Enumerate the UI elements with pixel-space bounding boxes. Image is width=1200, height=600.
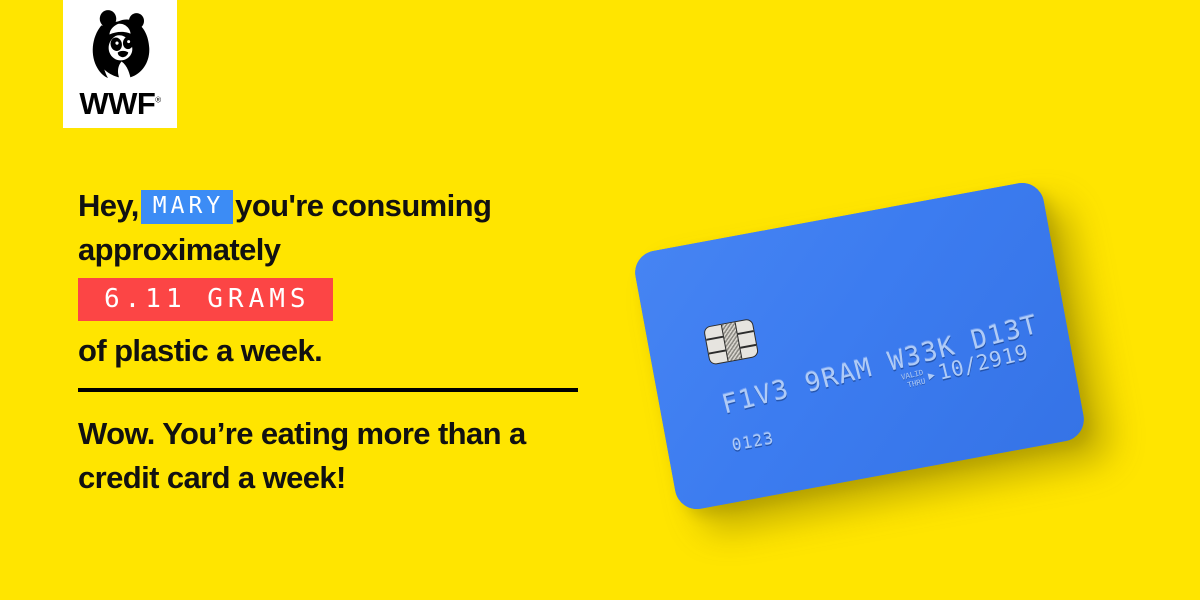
valid-arrow-icon: ▶ [927,369,936,381]
section-divider [78,388,578,392]
credit-card-face: F1V3 9RAM W33K D13T 0123 VALID THRU ▶ 10… [632,179,1088,512]
amount-badge-line: 6.11 GRAMS [78,272,638,323]
headline: Hey,MARYyou're consuming approximately 6… [78,184,638,373]
valid-thru-label: VALID THRU [900,368,926,391]
credit-card: F1V3 9RAM W33K D13T 0123 VALID THRU ▶ 10… [632,179,1088,512]
user-name-chip: MARY [141,190,233,224]
chip-contact-band [721,322,742,361]
wwf-wordmark-text: WWF [79,86,155,121]
wwf-logo: WWF® [63,0,177,128]
wwf-wordmark: WWF® [79,88,160,119]
headline-block: Hey,MARYyou're consuming approximately 6… [78,184,638,373]
conclusion-text: Wow. You’re eating more than a credit ca… [78,412,638,500]
headline-line-1: Hey,MARYyou're consuming [78,184,638,228]
poster-canvas: WWF® Hey,MARYyou're consuming approximat… [0,0,1200,600]
registered-mark: ® [155,96,160,105]
headline-tail-text: you're consuming [235,188,491,223]
emv-chip-icon [703,318,759,365]
conclusion-line-1: Wow. You’re eating more than a [78,412,638,456]
credit-card-illustration: F1V3 9RAM W33K D13T 0123 VALID THRU ▶ 10… [630,185,1090,515]
headline-line-4: of plastic a week. [78,329,638,373]
card-secondary-number: 0123 [730,428,775,454]
panda-icon [82,9,158,87]
conclusion-line-2: credit card a week! [78,456,638,500]
greeting-text: Hey, [78,188,139,223]
headline-line-2: approximately [78,228,638,272]
grams-badge: 6.11 GRAMS [78,278,333,321]
